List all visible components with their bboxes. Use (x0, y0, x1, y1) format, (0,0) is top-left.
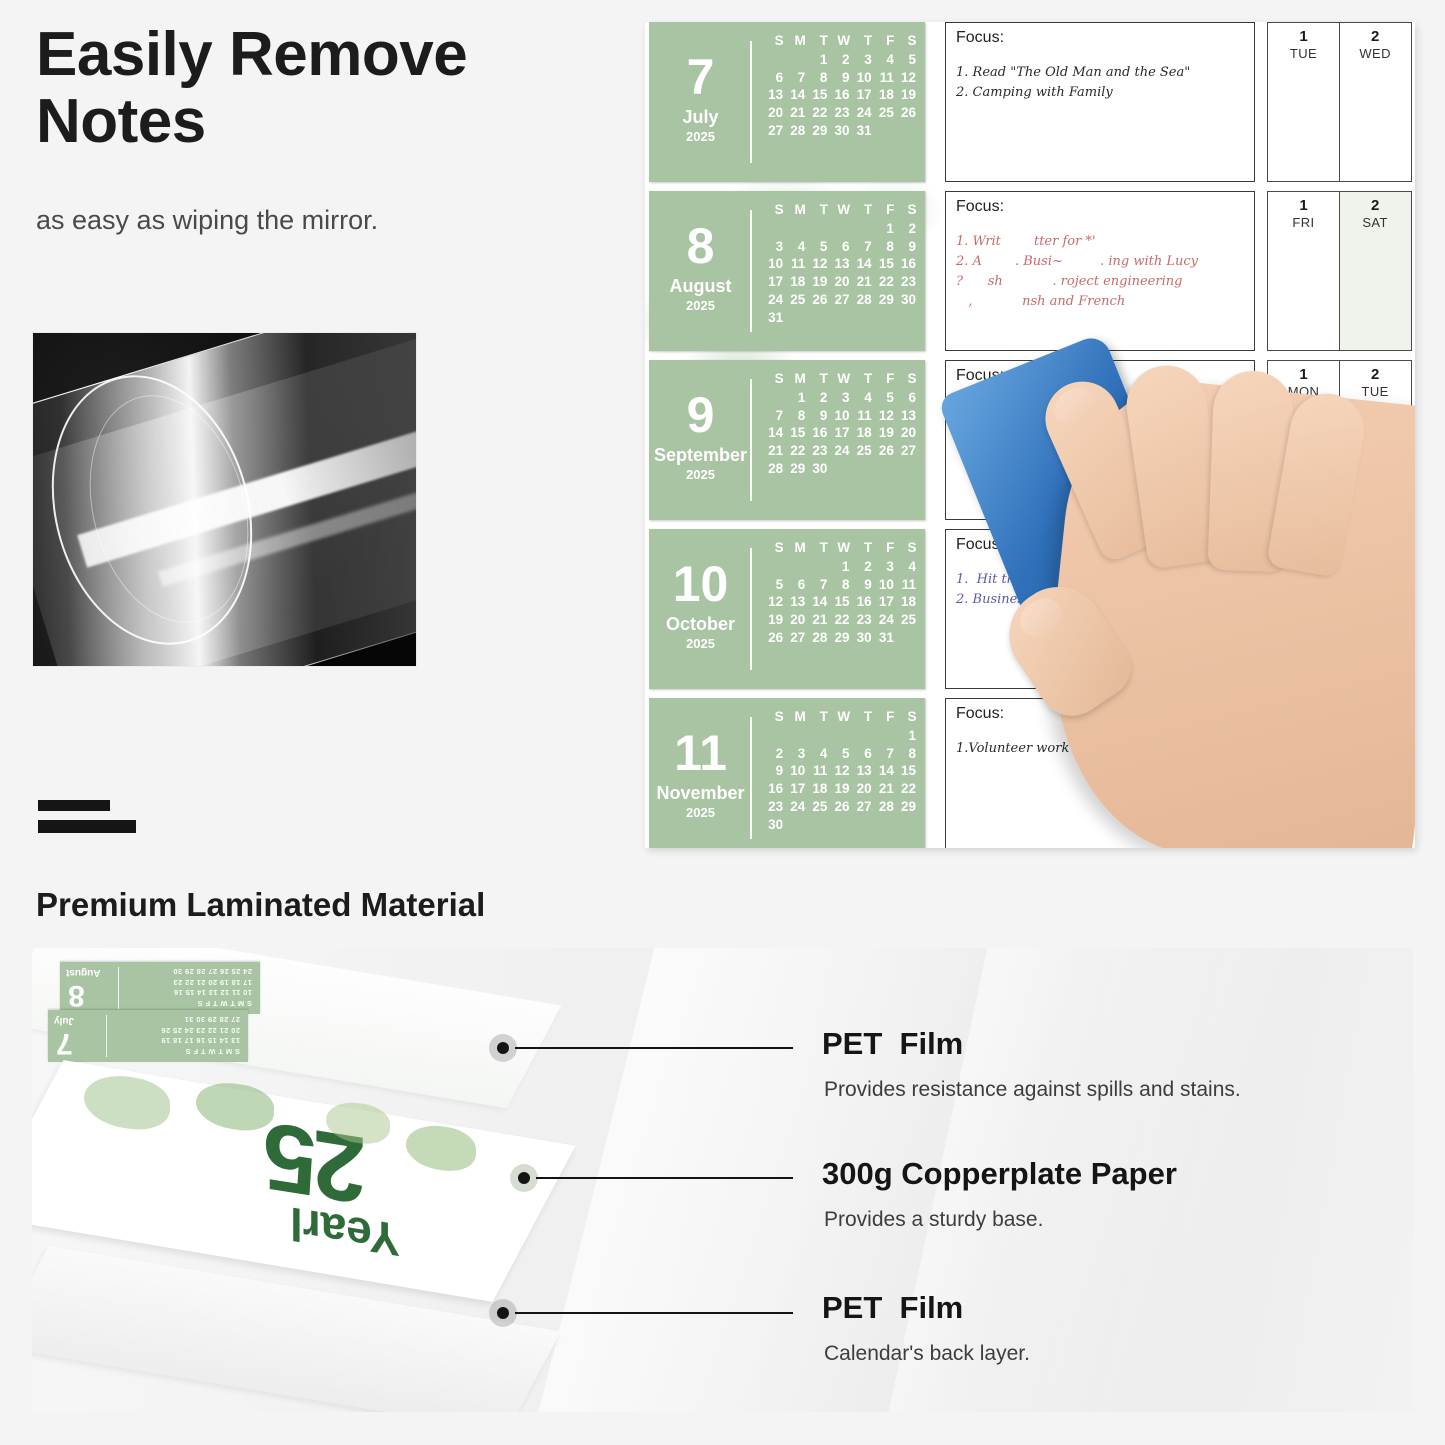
date-cell: 29 (784, 460, 806, 478)
month-date-grid: SMTWTFS123456789101112131415161718192021… (752, 529, 925, 689)
date-cell (873, 727, 895, 745)
day-of-week-row: SMTWTFS (762, 539, 917, 557)
date-cell: 1 (895, 727, 917, 745)
day-column[interactable]: 1MON (1267, 360, 1340, 520)
month-date-grid: SMTWTFS123456789101112131415161718192021… (752, 698, 925, 848)
date-cell: 13 (828, 255, 850, 273)
date-cell (806, 309, 828, 327)
focus-label: Focus: (956, 29, 1244, 47)
date-cell: 23 (828, 104, 850, 122)
callout-dot-center (518, 1172, 530, 1184)
date-cell (895, 816, 917, 834)
date-cell: 22 (828, 611, 850, 629)
callout-dot (489, 1299, 517, 1327)
dow-label: M (784, 539, 806, 557)
date-cell: 5 (828, 745, 850, 763)
date-cell: 3 (784, 745, 806, 763)
date-cell: 23 (762, 798, 784, 816)
date-cell: 8 (828, 576, 850, 594)
date-cell: 1 (806, 51, 828, 69)
date-cell (873, 460, 895, 478)
week-row: 14151617181920 (762, 424, 917, 442)
week-row: 9101112131415 (762, 762, 917, 780)
dow-label: W (828, 201, 850, 219)
date-cell: 15 (784, 424, 806, 442)
callout-leader-line (515, 1047, 793, 1049)
date-cell: 14 (851, 255, 873, 273)
date-cell: 27 (784, 629, 806, 647)
date-cell (784, 51, 806, 69)
date-cell (851, 309, 873, 327)
date-cell: 12 (895, 69, 917, 87)
date-cell: 3 (873, 558, 895, 576)
date-cell: 17 (851, 86, 873, 104)
page-subtitle: as easy as wiping the mirror. (36, 205, 596, 236)
date-cell (828, 727, 850, 745)
mini-calendar-name: July (54, 1015, 74, 1026)
week-row: 20212223242526 (762, 104, 917, 122)
page-title: Easily Remove Notes (36, 22, 616, 156)
date-cell: 20 (895, 424, 917, 442)
month-divider-rule (750, 717, 752, 839)
day-of-week-row: SMTWTFS (762, 708, 917, 726)
day-number: 1 (1268, 367, 1339, 384)
date-cell: 28 (873, 798, 895, 816)
date-cell: 13 (762, 86, 784, 104)
date-cell: 8 (806, 69, 828, 87)
calendar-photo: 7July2025SMTWTFS123456789101112131415161… (645, 22, 1415, 848)
day-number: 2 (1340, 536, 1411, 553)
date-cell: 26 (806, 291, 828, 309)
date-cell: 4 (873, 51, 895, 69)
date-cell: 18 (873, 86, 895, 104)
dow-label: S (895, 539, 917, 557)
date-cell: 24 (873, 611, 895, 629)
date-cell (895, 629, 917, 647)
date-cell: 13 (851, 762, 873, 780)
callout-dot-center (497, 1042, 509, 1054)
week-row: 12 (762, 220, 917, 238)
day-name: FRI (1268, 215, 1339, 230)
week-row: 262728293031 (762, 629, 917, 647)
day-column[interactable]: 2SAT (1339, 191, 1412, 351)
date-cell: 2 (828, 51, 850, 69)
date-cell: 8 (784, 407, 806, 425)
date-cell: 25 (895, 611, 917, 629)
date-cell: 15 (895, 762, 917, 780)
day-column[interactable] (1339, 698, 1412, 848)
day-number: 2 (1340, 29, 1411, 46)
date-cell: 11 (806, 762, 828, 780)
date-cell: 20 (762, 104, 784, 122)
date-cell: 14 (806, 593, 828, 611)
day-name: SAT (1340, 215, 1411, 230)
day-column[interactable]: 1TUE (1267, 22, 1340, 182)
month-year: 2025 (686, 467, 715, 482)
callout-description: Calendar's back layer. (824, 1342, 1030, 1366)
day-column[interactable] (1267, 698, 1340, 848)
date-cell: 6 (762, 69, 784, 87)
week-row: 16171819202122 (762, 780, 917, 798)
date-cell: 7 (806, 576, 828, 594)
dow-label: F (873, 708, 895, 726)
day-name: TUE (1340, 384, 1411, 399)
callout-leader-line (515, 1312, 793, 1314)
date-cell: 19 (762, 611, 784, 629)
dow-label: T (851, 539, 873, 557)
month-card-left: 8August2025 (649, 191, 752, 351)
date-cell: 26 (873, 442, 895, 460)
month-divider-rule (750, 210, 752, 332)
date-cell: 30 (828, 122, 850, 140)
day-number: 2 (1340, 367, 1411, 384)
week-row: 282930 (762, 460, 917, 478)
dow-label: W (828, 370, 850, 388)
date-cell (762, 51, 784, 69)
week-row: 3456789 (762, 238, 917, 256)
day-column[interactable]: 2TUE (1339, 360, 1412, 520)
focus-label: Focus: (956, 198, 1244, 216)
calendar-month-rows: 7July2025SMTWTFS123456789101112131415161… (645, 22, 1415, 848)
focus-note-list: 1. Hit the Gy2. Business Tr (956, 570, 1244, 610)
focus-note-line: 1. Read "The Old Man and the Sea" (956, 63, 1244, 83)
laminated-material-panel: S M T W T F S10 11 12 13 14 15 1617 18 1… (32, 948, 1413, 1412)
date-cell: 17 (873, 593, 895, 611)
dow-label: T (806, 201, 828, 219)
day-columns (1267, 698, 1410, 848)
date-cell: 21 (851, 273, 873, 291)
dow-label: T (851, 708, 873, 726)
focus-note-card[interactable]: Focus:1. Writ tter for *'2. A . Busi~ . … (945, 191, 1255, 351)
month-year: 2025 (686, 129, 715, 144)
date-cell: 22 (784, 442, 806, 460)
date-cell: 7 (762, 407, 784, 425)
date-cell: 14 (873, 762, 895, 780)
date-cell: 9 (895, 238, 917, 256)
month-date-grid: SMTWTFS123456789101112131415161718192021… (752, 360, 925, 520)
day-of-week-row: SMTWTFS (762, 32, 917, 50)
dow-label: F (873, 539, 895, 557)
dow-label: T (851, 32, 873, 50)
month-divider-rule (750, 379, 752, 501)
week-row: 21222324252627 (762, 442, 917, 460)
date-cell: 30 (762, 816, 784, 834)
focus-note-list: 1. Read "The Old Man and the Sea"2. Camp… (956, 63, 1244, 103)
dow-label: S (762, 370, 784, 388)
week-row: 6789101112 (762, 69, 917, 87)
date-cell (762, 389, 784, 407)
month-name: August (670, 277, 732, 295)
week-row: 123456 (762, 389, 917, 407)
dow-label: M (784, 708, 806, 726)
date-cell: 26 (762, 629, 784, 647)
focus-label: Focus: (956, 367, 1244, 385)
calendar-month-row: 10October2025SMTWTFS12345678910111213141… (645, 529, 1415, 689)
focus-note-card[interactable]: Focus:1.Volunteer work (945, 698, 1255, 848)
mini-calendar-grid: S M T W T F S10 11 12 13 14 15 1617 18 1… (132, 965, 252, 1008)
month-card-september: 9September2025SMTWTFS1234567891011121314… (649, 360, 925, 520)
dow-label: S (895, 708, 917, 726)
week-row: 12345 (762, 51, 917, 69)
date-cell: 23 (806, 442, 828, 460)
date-cell: 28 (762, 460, 784, 478)
date-cell: 28 (851, 291, 873, 309)
date-cell: 30 (895, 291, 917, 309)
focus-note-line: 2. Business Tr (956, 590, 1244, 610)
month-card-left: 9September2025 (649, 360, 752, 520)
focus-note-card[interactable]: Focus: (945, 360, 1255, 520)
date-cell: 5 (873, 389, 895, 407)
dow-label: S (762, 32, 784, 50)
week-row: 23242526272829 (762, 798, 917, 816)
month-name: November (656, 784, 744, 802)
date-cell: 29 (873, 291, 895, 309)
focus-note-line: 1.Volunteer work (956, 739, 1244, 759)
week-row: 19202122232425 (762, 611, 917, 629)
focus-label: Focus: (956, 705, 1244, 723)
date-cell: 27 (851, 798, 873, 816)
date-cell: 17 (828, 424, 850, 442)
date-cell: 28 (806, 629, 828, 647)
day-columns: 1TUE2WED (1267, 22, 1410, 182)
date-cell: 10 (762, 255, 784, 273)
dow-label: S (762, 539, 784, 557)
focus-note-line: 2. A . Busi~ . ing with Lucy (956, 252, 1244, 272)
week-row: 1234 (762, 558, 917, 576)
day-column[interactable] (1267, 529, 1340, 689)
dow-label: M (784, 370, 806, 388)
date-cell: 6 (828, 238, 850, 256)
date-cell: 1 (828, 558, 850, 576)
date-cell: 27 (828, 291, 850, 309)
date-cell: 12 (806, 255, 828, 273)
date-cell (851, 460, 873, 478)
focus-note-card[interactable]: Focus:1. Read "The Old Man and the Sea"2… (945, 22, 1255, 182)
date-cell: 8 (873, 238, 895, 256)
date-cell: 4 (806, 745, 828, 763)
date-cell: 12 (762, 593, 784, 611)
focus-note-list: 1.Volunteer work (956, 739, 1244, 759)
date-cell: 19 (828, 780, 850, 798)
day-column[interactable]: 2WED (1339, 22, 1412, 182)
date-cell: 20 (828, 273, 850, 291)
date-cell (851, 220, 873, 238)
month-number: 10 (673, 561, 729, 609)
callout-dot-center (497, 1307, 509, 1319)
date-cell (851, 727, 873, 745)
dow-label: M (784, 201, 806, 219)
date-cell: 9 (806, 407, 828, 425)
month-year: 2025 (686, 298, 715, 313)
date-cell: 1 (784, 389, 806, 407)
date-cell: 3 (851, 51, 873, 69)
month-number: 9 (687, 392, 715, 440)
date-cell (873, 816, 895, 834)
date-cell: 22 (873, 273, 895, 291)
date-cell: 5 (806, 238, 828, 256)
date-cell: 29 (895, 798, 917, 816)
date-cell: 23 (895, 273, 917, 291)
date-cell: 16 (828, 86, 850, 104)
date-cell: 16 (762, 780, 784, 798)
focus-note-line: 2. Camping with Family (956, 83, 1244, 103)
week-row: 2345678 (762, 745, 917, 763)
date-cell: 1 (873, 220, 895, 238)
day-columns: 1MON2TUE (1267, 360, 1410, 520)
date-cell (873, 309, 895, 327)
date-cell: 19 (806, 273, 828, 291)
dow-label: T (806, 708, 828, 726)
date-cell: 15 (873, 255, 895, 273)
date-cell: 18 (806, 780, 828, 798)
date-cell: 2 (806, 389, 828, 407)
section-title: Premium Laminated Material (36, 886, 485, 924)
date-cell: 16 (806, 424, 828, 442)
month-name: September (654, 446, 747, 464)
dow-label: S (895, 370, 917, 388)
date-cell: 10 (784, 762, 806, 780)
month-year: 2025 (686, 805, 715, 820)
dow-label: T (806, 32, 828, 50)
week-row: 2728293031 (762, 122, 917, 140)
date-cell: 6 (784, 576, 806, 594)
date-cell: 9 (828, 69, 850, 87)
date-cell: 31 (762, 309, 784, 327)
date-cell: 10 (873, 576, 895, 594)
date-cell: 15 (806, 86, 828, 104)
week-row: 31 (762, 309, 917, 327)
date-cell: 30 (851, 629, 873, 647)
dow-label: S (895, 201, 917, 219)
day-columns: 1FRI2SAT (1267, 191, 1410, 351)
focus-label: Focus: (956, 536, 1244, 554)
callout-dot (489, 1034, 517, 1062)
date-cell: 27 (895, 442, 917, 460)
week-row: 1 (762, 727, 917, 745)
dow-label: F (873, 32, 895, 50)
divider (38, 800, 136, 833)
month-divider-rule (750, 548, 752, 670)
day-column[interactable]: 1FRI (1267, 191, 1340, 351)
product-infographic: Easily Remove Notes as easy as wiping th… (0, 0, 1445, 1445)
date-cell: 21 (873, 780, 895, 798)
focus-note-line: ? sh . roject engineering (956, 272, 1244, 292)
week-row: 567891011 (762, 576, 917, 594)
date-cell (806, 558, 828, 576)
date-cell: 7 (851, 238, 873, 256)
calendar-month-row: 8August2025SMTWTFS1234567891011121314151… (645, 191, 1415, 351)
date-cell: 16 (851, 593, 873, 611)
date-cell (828, 816, 850, 834)
date-cell: 28 (784, 122, 806, 140)
dow-label: W (828, 708, 850, 726)
day-of-week-row: SMTWTFS (762, 201, 917, 219)
date-cell: 11 (851, 407, 873, 425)
date-cell (828, 460, 850, 478)
month-divider-rule (750, 41, 752, 163)
dow-label: S (895, 32, 917, 50)
date-cell (828, 220, 850, 238)
date-cell: 11 (895, 576, 917, 594)
month-number: 11 (674, 730, 727, 778)
date-cell: 7 (784, 69, 806, 87)
date-cell: 18 (851, 424, 873, 442)
focus-note-line: 1. Writ tter for *' (956, 232, 1244, 252)
date-cell: 19 (873, 424, 895, 442)
dow-label: T (806, 539, 828, 557)
day-number: 2 (1340, 198, 1411, 215)
date-cell: 3 (762, 238, 784, 256)
month-card-left: 11November2025 (649, 698, 752, 848)
day-name: MON (1268, 384, 1339, 399)
day-column[interactable]: 2THU (1339, 529, 1412, 689)
date-cell: 5 (762, 576, 784, 594)
calendar-month-row: 7July2025SMTWTFS123456789101112131415161… (645, 22, 1415, 182)
divider-bar-top (38, 800, 110, 811)
date-cell: 14 (762, 424, 784, 442)
mini-calendar-august: S M T W T F S10 11 12 13 14 15 1617 18 1… (60, 962, 260, 1014)
date-cell (784, 309, 806, 327)
date-cell: 12 (828, 762, 850, 780)
date-cell: 24 (828, 442, 850, 460)
month-number: 7 (687, 54, 715, 102)
date-cell (784, 727, 806, 745)
month-date-grid: SMTWTFS123456789101112131415161718192021… (752, 22, 925, 182)
week-row: 24252627282930 (762, 291, 917, 309)
day-name: TUE (1268, 46, 1339, 61)
dow-label: S (762, 708, 784, 726)
date-cell: 31 (873, 629, 895, 647)
week-row: 30 (762, 816, 917, 834)
leaf-blob (84, 1070, 170, 1136)
date-cell: 26 (895, 104, 917, 122)
month-card-october: 10October2025SMTWTFS12345678910111213141… (649, 529, 925, 689)
date-cell (828, 309, 850, 327)
date-cell: 23 (851, 611, 873, 629)
date-cell (851, 816, 873, 834)
date-cell: 16 (895, 255, 917, 273)
date-cell: 24 (851, 104, 873, 122)
callout-title: 300g Copperplate Paper (822, 1156, 1177, 1192)
date-cell (895, 122, 917, 140)
week-row: 12131415161718 (762, 593, 917, 611)
date-cell: 17 (762, 273, 784, 291)
date-cell: 11 (784, 255, 806, 273)
dow-label: T (851, 201, 873, 219)
date-cell: 11 (873, 69, 895, 87)
callout-dot (510, 1164, 538, 1192)
date-cell: 7 (873, 745, 895, 763)
date-cell: 24 (762, 291, 784, 309)
date-cell (784, 816, 806, 834)
leaf-blob (406, 1121, 476, 1176)
dow-label: F (873, 370, 895, 388)
date-cell: 30 (806, 460, 828, 478)
date-cell: 31 (851, 122, 873, 140)
date-cell: 29 (828, 629, 850, 647)
dow-label: S (762, 201, 784, 219)
month-name: October (666, 615, 735, 633)
date-cell (806, 727, 828, 745)
day-number: 1 (1268, 29, 1339, 46)
focus-note-card[interactable]: Focus:1. Hit the Gy2. Business Tr (945, 529, 1255, 689)
date-cell (784, 558, 806, 576)
month-card-left: 7July2025 (649, 22, 752, 182)
date-cell: 21 (784, 104, 806, 122)
week-row: 10111213141516 (762, 255, 917, 273)
week-row: 13141516171819 (762, 86, 917, 104)
date-cell: 10 (828, 407, 850, 425)
